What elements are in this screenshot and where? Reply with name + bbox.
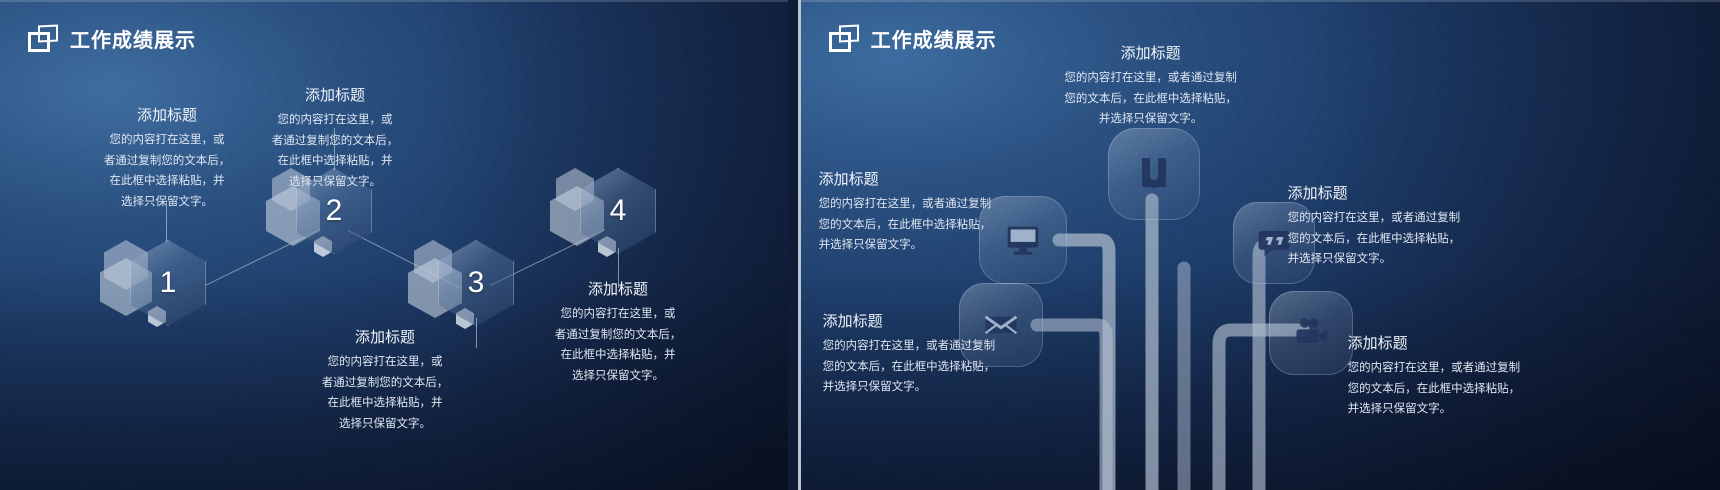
step-3-title: 添加标题 bbox=[290, 328, 480, 348]
step-1-hex-group[interactable]: 1 bbox=[100, 240, 220, 350]
step-4-title: 添加标题 bbox=[520, 280, 716, 300]
step-4-hex-group[interactable]: 4 bbox=[542, 168, 672, 280]
step-1-text-block: 添加标题 您的内容打在这里，或 者通过复制您的文本后， 在此框中选择粘贴，并 选… bbox=[72, 106, 262, 212]
item-monitor-text-block: 添加标题 您的内容打在这里，或者通过复制 您的文本后，在此框中选择粘贴， 并选择… bbox=[819, 170, 1034, 256]
slide-gutter bbox=[788, 0, 798, 490]
item-camera-body: 您的内容打在这里，或者通过复制 您的文本后，在此框中选择粘贴， 并选择只保留文字… bbox=[1348, 358, 1588, 419]
slide-deck: 工作成绩展示 1 添加标题 您的内容打在这里，或 者通过复制您的文本后， 在此框… bbox=[0, 0, 1720, 490]
item-magnet-title: 添加标题 bbox=[951, 44, 1351, 64]
item-camera-title: 添加标题 bbox=[1348, 334, 1588, 354]
slide-right: 工作成绩展示 bbox=[798, 0, 1720, 490]
photo-frames-icon bbox=[28, 25, 58, 52]
step-1-body: 您的内容打在这里，或 者通过复制您的文本后， 在此框中选择粘贴，并 选择只保留文… bbox=[72, 130, 262, 212]
item-bubble-body: 您的内容打在这里，或者通过复制 您的文本后，在此框中选择粘贴， 并选择只保留文字… bbox=[1288, 208, 1520, 269]
magnet-icon bbox=[1132, 152, 1176, 196]
step-4-text-block: 添加标题 您的内容打在这里，或 者通过复制您的文本后， 在此框中选择粘贴，并 选… bbox=[520, 280, 716, 386]
item-envelope-body: 您的内容打在这里，或者通过复制 您的文本后，在此框中选择粘贴， 并选择只保留文字… bbox=[823, 336, 1055, 397]
item-envelope-title: 添加标题 bbox=[823, 312, 1055, 332]
item-bubble-title: 添加标题 bbox=[1288, 184, 1520, 204]
step-1-title: 添加标题 bbox=[72, 106, 262, 126]
slide-left-header: 工作成绩展示 bbox=[28, 24, 196, 53]
item-envelope-text-block: 添加标题 您的内容打在这里，或者通过复制 您的文本后，在此框中选择粘贴， 并选择… bbox=[823, 312, 1055, 398]
item-monitor-body: 您的内容打在这里，或者通过复制 您的文本后，在此框中选择粘贴， 并选择只保留文字… bbox=[819, 194, 1034, 255]
item-bubble-text-block: 添加标题 您的内容打在这里，或者通过复制 您的文本后，在此框中选择粘贴， 并选择… bbox=[1288, 184, 1520, 270]
step-2-number: 2 bbox=[326, 196, 343, 226]
step-4-number: 4 bbox=[610, 196, 627, 226]
step-2-body: 您的内容打在这里，或 者通过复制您的文本后， 在此框中选择粘贴，并 选择只保留文… bbox=[240, 110, 430, 192]
step-3-number: 3 bbox=[468, 268, 485, 298]
step-3-body: 您的内容打在这里，或 者通过复制您的文本后， 在此框中选择粘贴，并 选择只保留文… bbox=[290, 352, 480, 434]
step-2-title: 添加标题 bbox=[240, 86, 430, 106]
item-magnet-text-block: 添加标题 您的内容打在这里，或者通过复制 您的文本后，在此框中选择粘贴， 并选择… bbox=[951, 44, 1351, 130]
step-1-number: 1 bbox=[160, 268, 177, 298]
step-3-text-block: 添加标题 您的内容打在这里，或 者通过复制您的文本后， 在此框中选择粘贴，并 选… bbox=[290, 328, 480, 434]
step-2-text-block: 添加标题 您的内容打在这里，或 者通过复制您的文本后， 在此框中选择粘贴，并 选… bbox=[240, 86, 430, 192]
item-camera-text-block: 添加标题 您的内容打在这里，或者通过复制 您的文本后，在此框中选择粘贴， 并选择… bbox=[1348, 334, 1588, 420]
page-title: 工作成绩展示 bbox=[70, 24, 196, 53]
slide-left: 工作成绩展示 1 添加标题 您的内容打在这里，或 者通过复制您的文本后， 在此框… bbox=[0, 0, 788, 490]
node-magnet[interactable] bbox=[1108, 128, 1200, 220]
node-video-camera[interactable] bbox=[1269, 291, 1353, 375]
slide-top-edge bbox=[0, 0, 788, 2]
item-magnet-body: 您的内容打在这里，或者通过复制 您的文本后，在此框中选择粘贴， 并选择只保留文字… bbox=[951, 68, 1351, 129]
item-monitor-title: 添加标题 bbox=[819, 170, 1034, 190]
step-4-body: 您的内容打在这里，或 者通过复制您的文本后， 在此框中选择粘贴，并 选择只保留文… bbox=[520, 304, 716, 386]
video-camera-icon bbox=[1291, 313, 1331, 353]
